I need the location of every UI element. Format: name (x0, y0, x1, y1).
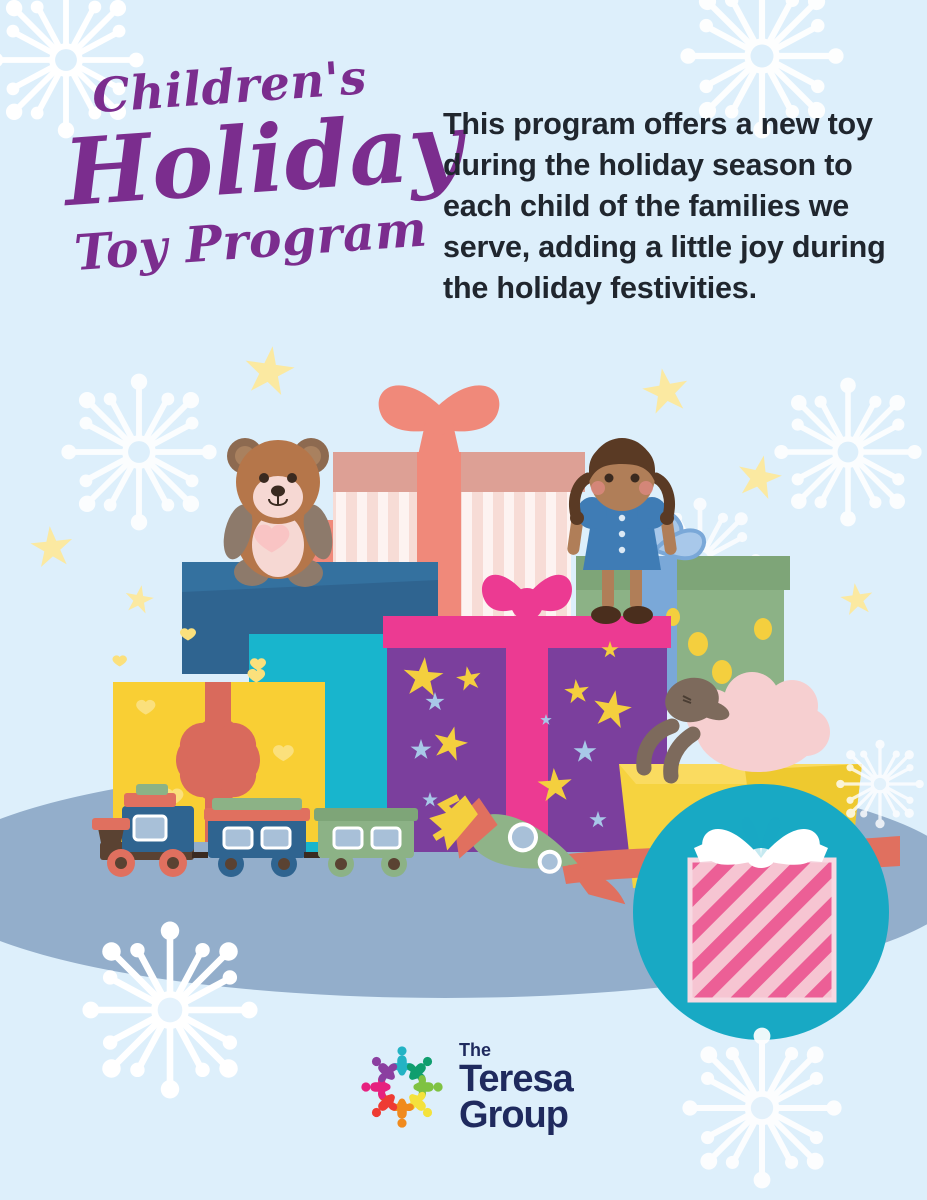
program-description: This program offers a new toy during the… (443, 104, 898, 309)
logo-group: Group (459, 1096, 573, 1134)
logo-figure-icon (365, 1050, 402, 1087)
snowflake-icon (836, 740, 924, 828)
logo-the: The (459, 1041, 573, 1059)
teresa-group-logo[interactable]: The Teresa Group (358, 1036, 573, 1138)
logo-teresa: Teresa (459, 1060, 573, 1098)
teresa-group-logo-mark (358, 1043, 446, 1131)
snowflake-icon (682, 1028, 841, 1189)
snowflake-icon (82, 922, 257, 1099)
poster-canvas: Children's Holiday Toy Program This prog… (0, 0, 927, 1200)
logo-wordmark: The Teresa Group (459, 1041, 573, 1134)
